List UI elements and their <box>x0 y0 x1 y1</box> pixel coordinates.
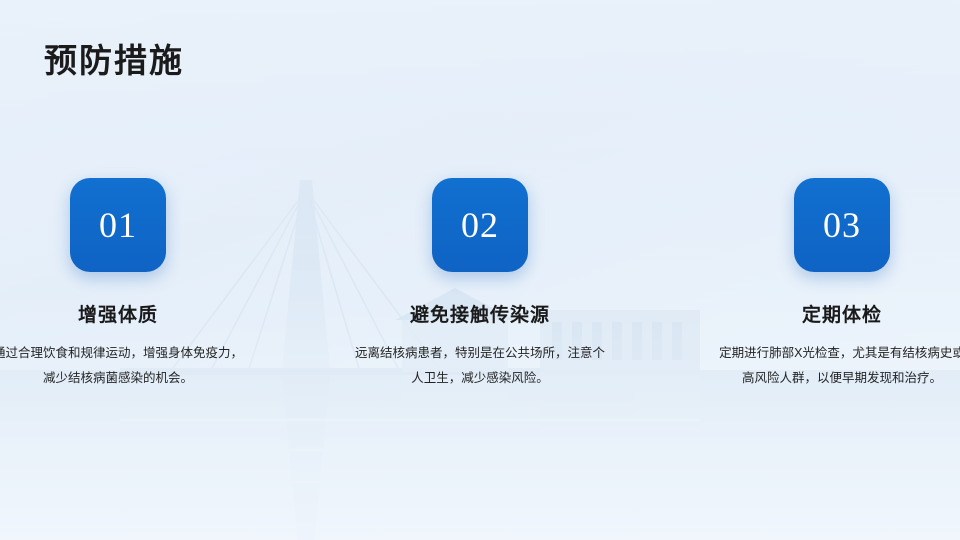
measure-title: 避免接触传染源 <box>410 300 550 327</box>
measure-number-badge: 01 <box>70 178 166 272</box>
measure-description: 通过合理饮食和规律运动，增强身体免疫力，减少结核病菌感染的机会。 <box>0 341 243 391</box>
measure-card: 03 定期体检 定期进行肺部X光检查，尤其是有结核病史或高风险人群，以便早期发现… <box>726 178 958 391</box>
page-title: 预防措施 <box>44 34 184 82</box>
measure-description: 定期进行肺部X光检查，尤其是有结核病史或高风险人群，以便早期发现和治疗。 <box>717 341 960 391</box>
measure-title: 增强体质 <box>78 300 158 327</box>
measure-number-badge: 02 <box>432 178 528 272</box>
measure-number-badge: 03 <box>794 178 890 272</box>
measure-title: 定期体检 <box>802 300 882 327</box>
slide: 预防措施 01 增强体质 通过合理饮食和规律运动，增强身体免疫力，减少结核病菌感… <box>0 0 960 540</box>
measure-card: 02 避免接触传染源 远离结核病患者，特别是在公共场所，注意个人卫生，减少感染风… <box>364 178 596 391</box>
measure-card: 01 增强体质 通过合理饮食和规律运动，增强身体免疫力，减少结核病菌感染的机会。 <box>2 178 234 391</box>
measures-list: 01 增强体质 通过合理饮食和规律运动，增强身体免疫力，减少结核病菌感染的机会。… <box>0 178 960 391</box>
measure-description: 远离结核病患者，特别是在公共场所，注意个人卫生，减少感染风险。 <box>355 341 605 391</box>
